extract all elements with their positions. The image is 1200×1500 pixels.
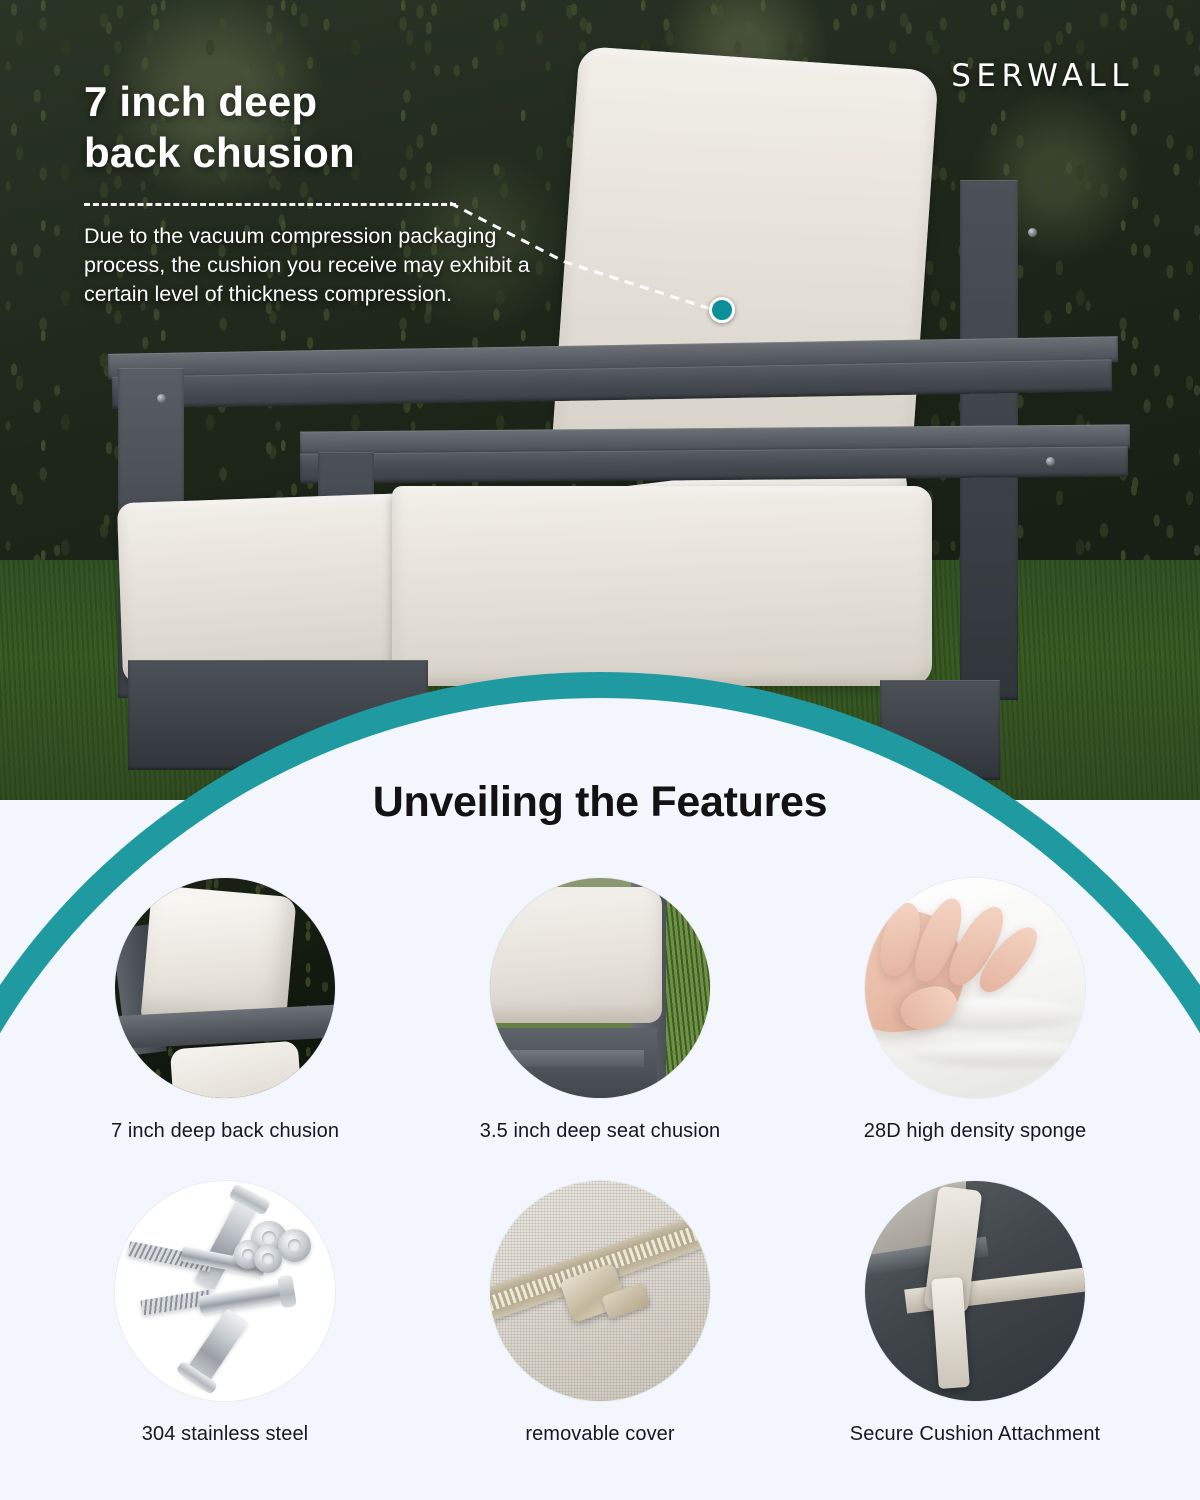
feature-thumbnail-cushion-attachment[interactable] [865,1181,1085,1401]
hero-description: Due to the vacuum compression packaging … [84,222,556,308]
feature-item[interactable]: 28D high density sponge [810,878,1140,1143]
screw-icon [157,394,166,403]
foam-fold [909,1041,1085,1067]
bolt-head [175,1360,218,1395]
features-row-1: 7 inch deep back chusion 3.5 inch deep s… [60,878,1140,1143]
product-feature-page: SERWALL 7 inch deep back chusion Due to … [0,0,1200,1500]
feature-item[interactable]: Secure Cushion Attachment [810,1181,1140,1446]
feature-item[interactable]: 7 inch deep back chusion [60,878,390,1143]
washer [278,1229,311,1262]
bolt-head [277,1274,297,1308]
washer [254,1245,283,1274]
feature-caption: 28D high density sponge [864,1120,1086,1143]
seat-cushion [490,887,662,1023]
screw-icon [1046,457,1055,466]
bolt-head [229,1184,271,1216]
callout-dot [709,297,735,323]
features-heading: Unveiling the Features [0,778,1200,827]
feature-caption: 3.5 inch deep seat chusion [480,1120,721,1143]
seat-cushion [170,1041,302,1098]
feature-thumbnail-seat-cushion[interactable] [490,878,710,1098]
back-cushion [551,46,939,480]
hero-title-line2: back chusion [84,127,544,178]
feature-thumbnail-removable-cover[interactable] [490,1181,710,1401]
feature-caption: Secure Cushion Attachment [850,1423,1100,1446]
title-divider [84,203,456,206]
features-grid: 7 inch deep back chusion 3.5 inch deep s… [60,878,1140,1484]
seat-cushion-left [117,493,423,683]
brand-logo: SERWALL [951,58,1134,94]
hero-title-line1: 7 inch deep [84,76,544,127]
feature-caption: 304 stainless steel [142,1423,308,1446]
feature-thumbnail-foam-density[interactable] [865,878,1085,1098]
feature-thumbnail-back-cushion[interactable] [115,878,335,1098]
feature-item[interactable]: 304 stainless steel [60,1181,390,1446]
features-row-2: 304 stainless steel removable cover [60,1181,1140,1446]
feature-item[interactable]: 3.5 inch deep seat chusion [435,878,765,1143]
seat-cushion [392,486,932,686]
feature-caption: 7 inch deep back chusion [111,1120,339,1143]
bolt [183,1308,249,1388]
screw-icon [1028,228,1037,237]
feature-item[interactable]: removable cover [435,1181,765,1446]
feature-caption: removable cover [525,1423,674,1446]
hero-title: 7 inch deep back chusion [84,76,544,178]
features-section: Unveiling the Features 7 inch deep back … [0,760,1200,1500]
chair-slat [508,1050,644,1068]
feature-thumbnail-stainless-hardware[interactable] [115,1181,335,1401]
